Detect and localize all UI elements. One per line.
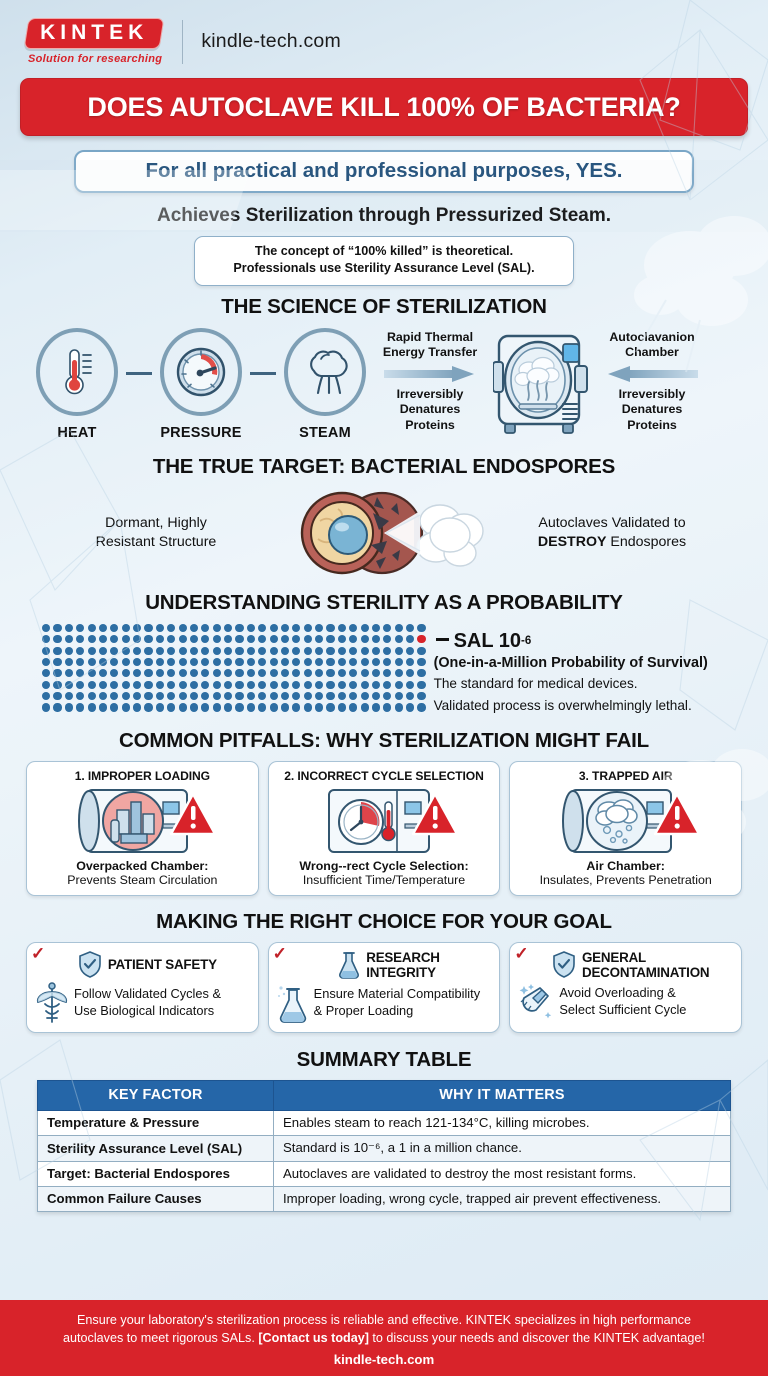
killed-dot [167, 703, 175, 711]
killed-dot [315, 647, 323, 655]
killed-dot [76, 681, 84, 689]
table-cell-key-factor: Target: Bacterial Endospores [38, 1161, 274, 1186]
logo-text: KINTEK [40, 22, 148, 44]
killed-dot [99, 681, 107, 689]
killed-dot [167, 669, 175, 677]
killed-dot [258, 681, 266, 689]
killed-dot [372, 669, 380, 677]
killed-dot [315, 624, 323, 632]
killed-dot [122, 703, 130, 711]
killed-dot [76, 703, 84, 711]
killed-dot [167, 635, 175, 643]
table-header-key-factor: KEY FACTOR [38, 1080, 274, 1110]
killed-dot [99, 658, 107, 666]
killed-dot [395, 692, 403, 700]
killed-dot [179, 692, 187, 700]
header-divider [182, 20, 183, 64]
pitfalls-heading: COMMON PITFALLS: WHY STERILIZATION MIGHT… [0, 729, 768, 753]
killed-dot [190, 703, 198, 711]
left-arrow-b1: Irreversibly [374, 387, 486, 403]
pitfall-bold-2: Wrong--rect Cycle Selection: [275, 859, 494, 873]
choice-desc-3-line2: Select Sufficient Cycle [559, 1002, 686, 1019]
pitfall-desc-3: Insulates, Prevents Penetration [516, 873, 735, 887]
killed-dot [406, 635, 414, 643]
killed-dot [167, 647, 175, 655]
pressure-circle [160, 328, 242, 416]
endospore-heading: THE TRUE TARGET: BACTERIAL ENDOSPORES [0, 455, 768, 479]
chain-link-2 [250, 372, 276, 375]
killed-dot [395, 703, 403, 711]
killed-dot [76, 692, 84, 700]
killed-dot [179, 635, 187, 643]
autoclave-icon [493, 332, 589, 436]
killed-dot [338, 624, 346, 632]
steam-cloud-icon [297, 345, 353, 399]
title-banner: DOES AUTOCLAVE KILL 100% OF BACTERIA? [20, 78, 748, 136]
overpacked-autoclave-icon [67, 786, 217, 856]
killed-dot [281, 681, 289, 689]
killed-dot [361, 635, 369, 643]
killed-dot [349, 692, 357, 700]
killed-dot [383, 703, 391, 711]
killed-dot [361, 681, 369, 689]
killed-dot [258, 669, 266, 677]
table-row: Temperature & PressureEnables steam to r… [38, 1110, 731, 1135]
air-pocket-autoclave-icon [551, 786, 701, 856]
killed-dot [110, 624, 118, 632]
killed-dot [372, 624, 380, 632]
killed-dot [179, 703, 187, 711]
killed-dot [372, 692, 380, 700]
killed-dot [190, 681, 198, 689]
killed-dot [213, 635, 221, 643]
gauge-icon [173, 344, 229, 400]
killed-dot [315, 635, 323, 643]
killed-dot [417, 658, 425, 666]
killed-dot [326, 624, 334, 632]
killed-dot [247, 647, 255, 655]
killed-dot [235, 692, 243, 700]
killed-dot [395, 681, 403, 689]
thermometer-icon [57, 346, 97, 398]
killed-dot [224, 703, 232, 711]
killed-dot [224, 692, 232, 700]
left-arrow-group: Rapid Thermal Energy Transfer Irreversib… [374, 328, 486, 434]
killed-dot [338, 635, 346, 643]
pitfall-title-3: 3. TRAPPED AIR [516, 769, 735, 783]
killed-dot [99, 692, 107, 700]
killed-dot [406, 692, 414, 700]
killed-dot [247, 692, 255, 700]
killed-dot [304, 681, 312, 689]
killed-dot [76, 635, 84, 643]
killed-dot [133, 703, 141, 711]
killed-dot [224, 647, 232, 655]
killed-dot [76, 669, 84, 677]
killed-dot [326, 658, 334, 666]
killed-dot [190, 658, 198, 666]
footer-cta: Ensure your laboratory's sterilization p… [0, 1300, 768, 1376]
killed-dot [167, 658, 175, 666]
killed-dot [315, 658, 323, 666]
choice-card-patient-safety[interactable]: ✓ PATIENT SAFETY [26, 942, 259, 1033]
killed-dot [349, 669, 357, 677]
killed-dot [122, 624, 130, 632]
footer-line-2c: to discuss your needs and discover the K… [369, 1331, 705, 1345]
killed-dot [281, 669, 289, 677]
pitfall-graphic-2 [275, 785, 494, 857]
killed-dot [133, 692, 141, 700]
killed-dot [338, 681, 346, 689]
killed-dot [304, 669, 312, 677]
footer-site[interactable]: kindle-tech.com [0, 1350, 768, 1369]
killed-dot [270, 635, 278, 643]
killed-dot [338, 692, 346, 700]
right-arrow-b1: Irreversibly [596, 387, 708, 403]
killed-dot [326, 692, 334, 700]
pitfall-desc-1: Prevents Steam Circulation [33, 873, 252, 887]
choice-title-3-line2: DECONTAMINATION [582, 965, 709, 980]
pitfall-graphic-3 [516, 785, 735, 857]
sal-para-1: The standard for medical devices. [434, 675, 708, 693]
killed-dot [110, 681, 118, 689]
killed-dot [235, 658, 243, 666]
killed-dot [156, 658, 164, 666]
arrow-right-icon [374, 361, 486, 387]
pitfall-bold-1: Overpacked Chamber: [33, 859, 252, 873]
killed-dot [304, 703, 312, 711]
killed-dot [349, 703, 357, 711]
pitfall-card-2[interactable]: 2. INCORRECT CYCLE SELECTION [268, 761, 501, 896]
contact-us-link[interactable]: [Contact us today] [258, 1331, 369, 1345]
concept-line-2: Professionals use Sterility Assurance Le… [205, 260, 563, 277]
killed-dot [122, 658, 130, 666]
killed-dot [65, 681, 73, 689]
pitfall-title-2: 2. INCORRECT CYCLE SELECTION [275, 769, 494, 783]
table-row: Sterility Assurance Level (SAL)Standard … [38, 1135, 731, 1161]
killed-dot [42, 635, 50, 643]
check-mark-icon: ✓ [273, 945, 287, 962]
killed-dot [42, 624, 50, 632]
killed-dot [65, 624, 73, 632]
killed-dot [65, 669, 73, 677]
killed-dot [258, 703, 266, 711]
killed-dot [270, 692, 278, 700]
killed-dot [110, 669, 118, 677]
killed-dot [156, 647, 164, 655]
killed-dot [179, 647, 187, 655]
killed-dot [190, 624, 198, 632]
killed-dot [190, 692, 198, 700]
killed-dot [144, 703, 152, 711]
pitfall-card-list: 1. IMPROPER LOADING [0, 761, 768, 896]
killed-dot [213, 669, 221, 677]
kintek-logo[interactable]: KINTEK Solution for researching [26, 18, 162, 64]
killed-dot [144, 624, 152, 632]
summary-table-heading: SUMMARY TABLE [0, 1048, 768, 1072]
killed-dot [304, 624, 312, 632]
killed-dot [235, 624, 243, 632]
page-header: KINTEK Solution for researching kindle-t… [0, 0, 768, 72]
killed-dot [349, 658, 357, 666]
science-section: THE SCIENCE OF STERILIZATION [0, 295, 768, 441]
killed-dot [281, 624, 289, 632]
sal-exponent: -6 [521, 635, 531, 647]
broom-sparkle-icon [518, 982, 554, 1022]
choice-desc-1: Follow Validated Cycles & Use Biological… [74, 986, 221, 1019]
killed-dot [292, 669, 300, 677]
killed-dot [179, 658, 187, 666]
pitfall-graphic-1 [33, 785, 252, 857]
table-row: Common Failure CausesImproper loading, w… [38, 1186, 731, 1211]
choice-title-2: RESEARCH INTEGRITY [366, 950, 440, 980]
footer-line-1: Ensure your laboratory's sterilization p… [0, 1311, 768, 1329]
killed-dot [201, 692, 209, 700]
pitfall-card-1[interactable]: 1. IMPROPER LOADING [26, 761, 259, 896]
killed-dot [201, 703, 209, 711]
killed-dot [224, 669, 232, 677]
killed-dot [201, 658, 209, 666]
killed-dot [270, 658, 278, 666]
endospore-right-2: DESTROY Endospores [509, 533, 715, 552]
endospore-right-1: Autoclaves Validated to [509, 514, 715, 533]
killed-dot [372, 635, 380, 643]
summary-table: KEY FACTOR WHY IT MATTERS Temperature & … [37, 1080, 731, 1212]
infographic-page: KINTEK Solution for researching kindle-t… [0, 0, 768, 1376]
killed-dot [88, 703, 96, 711]
science-chain: HEAT [28, 328, 374, 441]
endospore-destroy: DESTROY [538, 534, 607, 550]
killed-dot [270, 703, 278, 711]
clock-thermometer-icon [309, 786, 459, 856]
summary-table-section: SUMMARY TABLE KEY FACTOR WHY IT MATTERS … [0, 1048, 768, 1212]
killed-dot [326, 681, 334, 689]
killed-dot [144, 635, 152, 643]
killed-dot [122, 669, 130, 677]
killed-dot [281, 658, 289, 666]
killed-dot [224, 635, 232, 643]
killed-dot [133, 635, 141, 643]
killed-dot [110, 703, 118, 711]
killed-dot [167, 681, 175, 689]
choice-desc-2: Ensure Material Compatibility & Proper L… [314, 986, 480, 1019]
killed-dot [156, 669, 164, 677]
killed-dot [53, 692, 61, 700]
choice-card-list: ✓ PATIENT SAFETY [0, 942, 768, 1033]
killed-dot [53, 669, 61, 677]
killed-dot [304, 647, 312, 655]
choice-desc-2-line1: Ensure Material Compatibility [314, 986, 480, 1003]
endospore-right-text: Autoclaves Validated to DESTROY Endospor… [509, 514, 715, 552]
killed-dot [383, 669, 391, 677]
killed-dot [372, 658, 380, 666]
pitfall-card-3[interactable]: 3. TRAPPED AIR [509, 761, 742, 896]
bursting-endospore-icon [264, 485, 504, 581]
killed-dot [372, 647, 380, 655]
table-cell-key-factor: Temperature & Pressure [38, 1110, 274, 1135]
killed-dot [383, 624, 391, 632]
killed-dot [53, 635, 61, 643]
choice-card-research-integrity[interactable]: ✓ RESEARCH INTEGRITY [268, 942, 501, 1033]
killed-dot [235, 681, 243, 689]
sal-leader-line [436, 638, 449, 641]
killed-dot [144, 681, 152, 689]
caduceus-icon [35, 982, 69, 1024]
page-title: DOES AUTOCLAVE KILL 100% OF BACTERIA? [87, 92, 680, 123]
killed-dot [76, 658, 84, 666]
killed-dot [201, 635, 209, 643]
choice-title-2-line1: RESEARCH [366, 950, 440, 965]
killed-dot [144, 647, 152, 655]
choice-title-3: GENERAL DECONTAMINATION [582, 950, 709, 980]
sal-label-row: SAL 10-6 [434, 630, 708, 653]
killed-dot [304, 658, 312, 666]
killed-dot [304, 692, 312, 700]
footer-line-2: autoclaves to meet rigorous SALs. [Conta… [0, 1329, 768, 1347]
killed-dot [224, 658, 232, 666]
killed-dot [179, 669, 187, 677]
killed-dot [417, 703, 425, 711]
killed-dot [395, 647, 403, 655]
concept-line-1: The concept of “100% killed” is theoreti… [205, 243, 563, 260]
killed-dot [270, 681, 278, 689]
table-cell-why-it-matters: Improper loading, wrong cycle, trapped a… [274, 1186, 731, 1211]
killed-dot [395, 624, 403, 632]
killed-dot [349, 635, 357, 643]
killed-dot [201, 647, 209, 655]
erlenmeyer-flask-icon [277, 982, 309, 1024]
steam-circle [284, 328, 366, 416]
killed-dot [383, 658, 391, 666]
killed-dot [99, 624, 107, 632]
logo-tagline: Solution for researching [26, 53, 162, 65]
killed-dot [235, 703, 243, 711]
killed-dot [133, 624, 141, 632]
subhead: Achieves Sterilization through Pressuriz… [0, 205, 768, 227]
heat-label: HEAT [57, 425, 96, 441]
right-arrow-top-1: Autoclavanion [596, 330, 708, 346]
killed-dot [417, 669, 425, 677]
endospore-left-text: Dormant, Highly Resistant Structure [53, 514, 259, 552]
killed-dot [88, 647, 96, 655]
killed-dot [361, 658, 369, 666]
answer-text: For all practical and professional purpo… [76, 159, 692, 183]
killed-dot [258, 692, 266, 700]
choice-card-general-decontamination[interactable]: ✓ GENERAL DECONTAMINATION [509, 942, 742, 1033]
killed-dot [42, 681, 50, 689]
killed-dot [338, 647, 346, 655]
killed-dot [110, 658, 118, 666]
killed-dot [361, 669, 369, 677]
heat-circle [36, 328, 118, 416]
pitfalls-section: COMMON PITFALLS: WHY STERILIZATION MIGHT… [0, 729, 768, 896]
killed-dot [383, 692, 391, 700]
sal-heading: UNDERSTANDING STERILITY AS A PROBABILITY [0, 591, 768, 615]
endospore-tail: Endospores [606, 534, 686, 550]
choice-title-1: PATIENT SAFETY [108, 957, 217, 972]
killed-dot [258, 635, 266, 643]
killed-dot [406, 669, 414, 677]
killed-dot [372, 703, 380, 711]
arrow-left-icon [596, 361, 708, 387]
killed-dot [292, 703, 300, 711]
killed-dot [201, 669, 209, 677]
killed-dot [258, 658, 266, 666]
killed-dot [122, 647, 130, 655]
right-arrow-top-2: Chamber [596, 345, 708, 361]
table-cell-key-factor: Sterility Assurance Level (SAL) [38, 1135, 274, 1161]
killed-dot [349, 624, 357, 632]
science-heading: THE SCIENCE OF STERILIZATION [0, 295, 768, 319]
killed-dot [53, 703, 61, 711]
killed-dot [349, 681, 357, 689]
killed-dot [88, 669, 96, 677]
killed-dot [201, 624, 209, 632]
killed-dot [247, 669, 255, 677]
killed-dot [326, 647, 334, 655]
killed-dot [270, 647, 278, 655]
killed-dot [190, 635, 198, 643]
killed-dot [406, 624, 414, 632]
killed-dot [270, 669, 278, 677]
choice-section: MAKING THE RIGHT CHOICE FOR YOUR GOAL ✓ … [0, 910, 768, 1033]
probability-dot-grid [42, 624, 426, 712]
killed-dot [383, 681, 391, 689]
left-arrow-b2: Denatures [374, 402, 486, 418]
killed-dot [326, 669, 334, 677]
killed-dot [224, 681, 232, 689]
endospore-left-1: Dormant, Highly [53, 514, 259, 533]
killed-dot [395, 669, 403, 677]
choice-heading: MAKING THE RIGHT CHOICE FOR YOUR GOAL [0, 910, 768, 934]
endospore-graphic [259, 485, 509, 581]
killed-dot [65, 658, 73, 666]
killed-dot [53, 647, 61, 655]
killed-dot [53, 681, 61, 689]
choice-title-1-line1: PATIENT SAFETY [108, 957, 217, 972]
table-header-why-it-matters: WHY IT MATTERS [274, 1080, 731, 1110]
killed-dot [99, 647, 107, 655]
summary-table-head: KEY FACTOR WHY IT MATTERS [38, 1080, 731, 1110]
killed-dot [417, 692, 425, 700]
killed-dot [406, 647, 414, 655]
killed-dot [270, 624, 278, 632]
killed-dot [292, 624, 300, 632]
killed-dot [53, 658, 61, 666]
table-cell-key-factor: Common Failure Causes [38, 1186, 274, 1211]
killed-dot [247, 624, 255, 632]
killed-dot [292, 681, 300, 689]
killed-dot [65, 635, 73, 643]
killed-dot [156, 624, 164, 632]
killed-dot [213, 703, 221, 711]
killed-dot [247, 635, 255, 643]
killed-dot [326, 703, 334, 711]
right-arrow-b3: Proteins [596, 418, 708, 434]
killed-dot [213, 624, 221, 632]
killed-dot [258, 647, 266, 655]
killed-dot [213, 692, 221, 700]
killed-dot [326, 635, 334, 643]
killed-dot [53, 624, 61, 632]
killed-dot [338, 669, 346, 677]
killed-dot [144, 692, 152, 700]
killed-dot [144, 658, 152, 666]
killed-dot [383, 635, 391, 643]
killed-dot [167, 624, 175, 632]
summary-table-body: Temperature & PressureEnables steam to r… [38, 1110, 731, 1211]
killed-dot [361, 703, 369, 711]
